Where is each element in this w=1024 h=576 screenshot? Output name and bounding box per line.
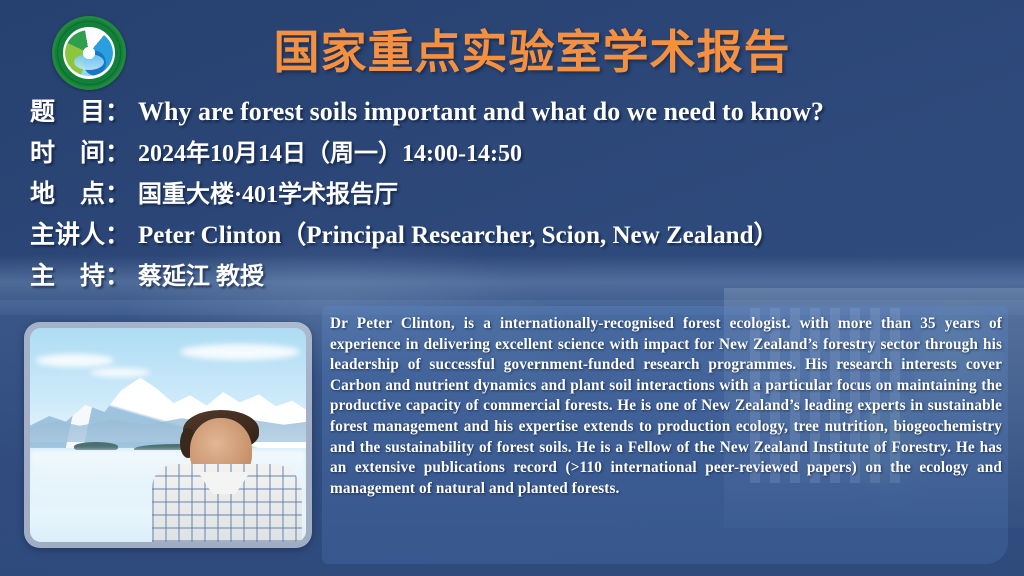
photo-cloud	[180, 344, 300, 360]
info-row-speaker: 主讲人： Peter Clinton（Principal Researcher,…	[30, 215, 1010, 256]
info-label-place: 地 点：	[30, 174, 138, 210]
seminar-poster: 国家重点实验室学术报告 题 目： Why are forest soils im…	[0, 0, 1024, 576]
info-value-speaker: Peter Clinton（Principal Researcher, Scio…	[138, 215, 778, 251]
photo-person	[152, 410, 302, 542]
photo-canvas	[30, 328, 306, 542]
poster-header: 国家重点实验室学术报告	[0, 0, 1024, 92]
page-title: 国家重点实验室学术报告	[0, 16, 1024, 82]
info-label-speaker: 主讲人：	[30, 215, 138, 251]
info-list: 题 目： Why are forest soils important and …	[30, 92, 1010, 297]
info-value-place: 国重大楼·401学术报告厅	[138, 174, 398, 209]
info-label-time: 时 间：	[30, 133, 138, 169]
photo-cloud	[90, 368, 150, 377]
info-value-topic: Why are forest soils important and what …	[138, 97, 824, 127]
info-label-topic: 题 目：	[30, 92, 138, 128]
info-value-host: 蔡延江 教授	[138, 256, 264, 291]
info-row-host: 主 持： 蔡延江 教授	[30, 256, 1010, 297]
info-row-place: 地 点： 国重大楼·401学术报告厅	[30, 174, 1010, 215]
photo-cloud	[36, 354, 114, 367]
info-row-topic: 题 目： Why are forest soils important and …	[30, 92, 1010, 133]
info-label-host: 主 持：	[30, 256, 138, 292]
info-value-time: 2024年10月14日（周一）14:00-14:50	[138, 133, 522, 168]
speaker-portrait-photo	[24, 322, 312, 548]
info-row-time: 时 间： 2024年10月14日（周一）14:00-14:50	[30, 133, 1010, 174]
biography-text: Dr Peter Clinton, is a internationally-r…	[330, 314, 1002, 499]
